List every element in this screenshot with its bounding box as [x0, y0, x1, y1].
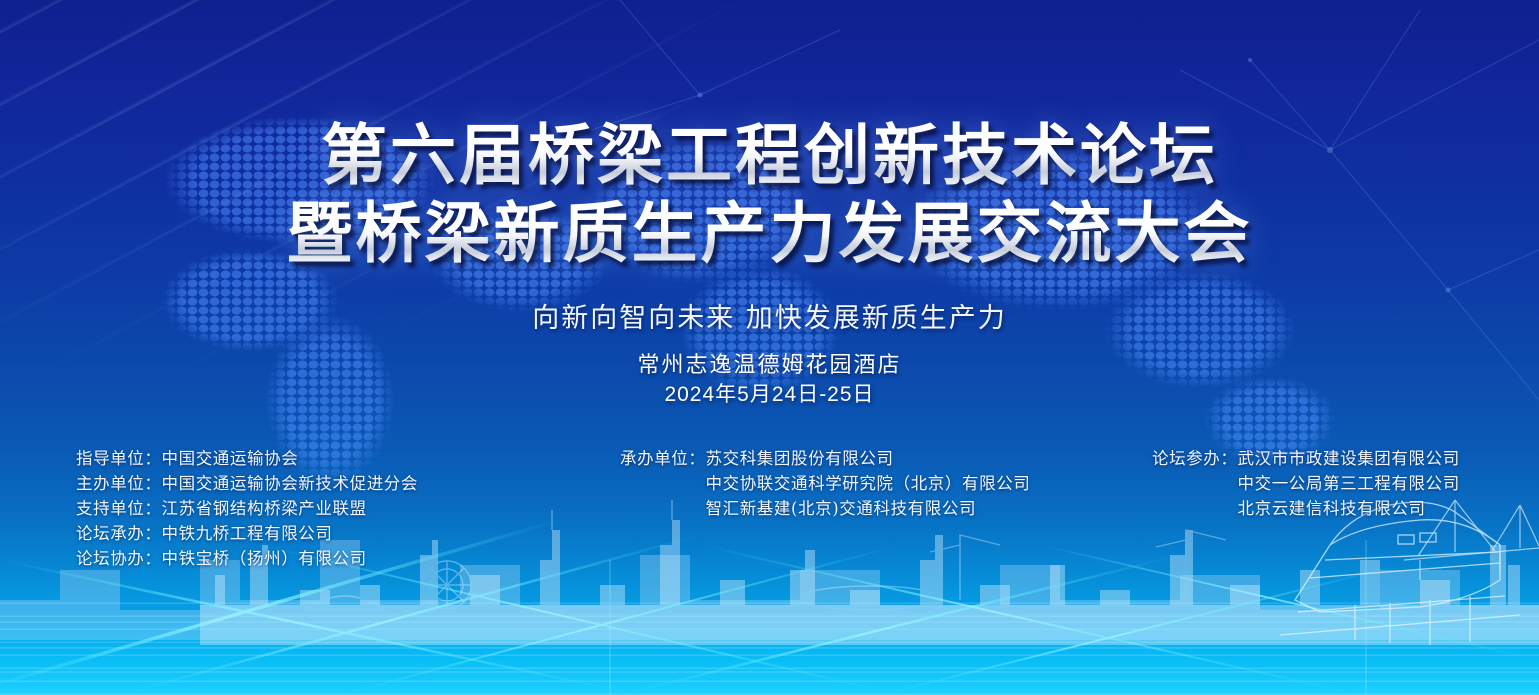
- sponsor-row: 论坛参办：武汉市市政建设集团有限公司中交一公局第三工程有限公司北京云建信科技有限…: [1152, 446, 1460, 521]
- sponsor-name: 中交协联交通科学研究院（北京）有限公司: [706, 471, 1031, 496]
- sponsor-name: 江苏省钢结构桥梁产业联盟: [162, 496, 367, 521]
- sponsor-name: 中国交通运输协会: [162, 446, 299, 471]
- sponsor-name: 武汉市市政建设集团有限公司: [1238, 446, 1460, 471]
- sponsor-column-right: 论坛参办：武汉市市政建设集团有限公司中交一公局第三工程有限公司北京云建信科技有限…: [1152, 446, 1460, 521]
- sponsor-column-left: 指导单位：中国交通运输协会主办单位：中国交通运输协会新技术促进分会支持单位：江苏…: [76, 446, 418, 571]
- sponsor-values: 江苏省钢结构桥梁产业联盟: [162, 496, 367, 521]
- conference-banner: 第六届桥梁工程创新技术论坛 暨桥梁新质生产力发展交流大会 向新向智向未来 加快发…: [0, 0, 1539, 695]
- sponsor-label: 主办单位：: [76, 471, 162, 496]
- sponsor-name: 中铁宝桥（扬州）有限公司: [162, 546, 367, 571]
- sponsor-name: 北京云建信科技有限公司: [1238, 496, 1460, 521]
- sponsor-row: 指导单位：中国交通运输协会: [76, 446, 418, 471]
- sponsor-values: 中铁九桥工程有限公司: [162, 521, 333, 546]
- sponsor-name: 中铁九桥工程有限公司: [162, 521, 333, 546]
- sponsor-name: 中交一公局第三工程有限公司: [1238, 471, 1460, 496]
- sponsor-label: 论坛参办：: [1152, 446, 1238, 521]
- venue-name: 常州志逸温德姆花园酒店: [0, 352, 1539, 380]
- venue-block: 常州志逸温德姆花园酒店 2024年5月24日-25日: [0, 352, 1539, 410]
- sponsor-label: 支持单位：: [76, 496, 162, 521]
- sponsor-name: 苏交科集团股份有限公司: [706, 446, 1031, 471]
- sponsor-values: 苏交科集团股份有限公司中交协联交通科学研究院（北京）有限公司智汇新基建(北京)交…: [706, 446, 1031, 521]
- venue-date: 2024年5月24日-25日: [0, 380, 1539, 410]
- title-line-1: 第六届桥梁工程创新技术论坛: [0, 116, 1539, 194]
- title-line-2: 暨桥梁新质生产力发展交流大会: [0, 194, 1539, 272]
- sponsor-row: 承办单位：苏交科集团股份有限公司中交协联交通科学研究院（北京）有限公司智汇新基建…: [620, 446, 1030, 521]
- sponsor-label: 论坛协办：: [76, 546, 162, 571]
- sponsor-values: 武汉市市政建设集团有限公司中交一公局第三工程有限公司北京云建信科技有限公司: [1238, 446, 1460, 521]
- sponsor-label: 承办单位：: [620, 446, 706, 521]
- sponsor-column-middle: 承办单位：苏交科集团股份有限公司中交协联交通科学研究院（北京）有限公司智汇新基建…: [620, 446, 1030, 521]
- sponsor-label: 论坛承办：: [76, 521, 162, 546]
- title-block: 第六届桥梁工程创新技术论坛 暨桥梁新质生产力发展交流大会: [0, 116, 1539, 272]
- sponsor-values: 中铁宝桥（扬州）有限公司: [162, 546, 367, 571]
- sponsor-row: 论坛协办：中铁宝桥（扬州）有限公司: [76, 546, 418, 571]
- sponsor-values: 中国交通运输协会: [162, 446, 299, 471]
- sponsor-row: 主办单位：中国交通运输协会新技术促进分会: [76, 471, 418, 496]
- slogan: 向新向智向未来 加快发展新质生产力: [0, 296, 1539, 335]
- sponsor-name: 智汇新基建(北京)交通科技有限公司: [706, 496, 1031, 521]
- sponsor-values: 中国交通运输协会新技术促进分会: [162, 471, 419, 496]
- sponsor-name: 中国交通运输协会新技术促进分会: [162, 471, 419, 496]
- sponsor-row: 论坛承办：中铁九桥工程有限公司: [76, 521, 418, 546]
- sponsor-label: 指导单位：: [76, 446, 162, 471]
- sponsor-row: 支持单位：江苏省钢结构桥梁产业联盟: [76, 496, 418, 521]
